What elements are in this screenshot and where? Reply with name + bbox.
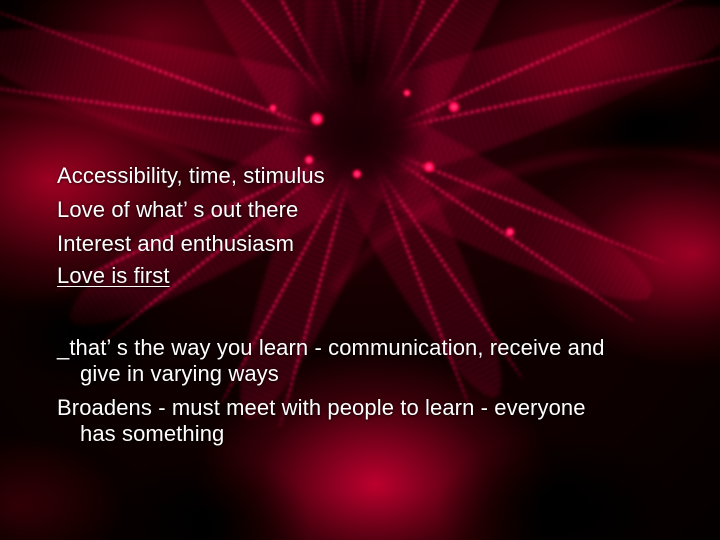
slide-text-line: give in varying ways (80, 363, 279, 385)
slide-text-body: Accessibility, time, stimulusLove of wha… (0, 0, 720, 540)
slide-text-line: Love is first (57, 265, 170, 287)
slide-text-line: Accessibility, time, stimulus (57, 165, 325, 187)
slide-text-line: Love of what’ s out there (57, 199, 298, 221)
slide-text-line: Broadens - must meet with people to lear… (57, 397, 586, 419)
slide-text-line: Interest and enthusiasm (57, 233, 294, 255)
presentation-slide: Accessibility, time, stimulusLove of wha… (0, 0, 720, 540)
slide-text-line: _that’ s the way you learn - communicati… (57, 337, 605, 359)
slide-text-line: has something (80, 423, 224, 445)
